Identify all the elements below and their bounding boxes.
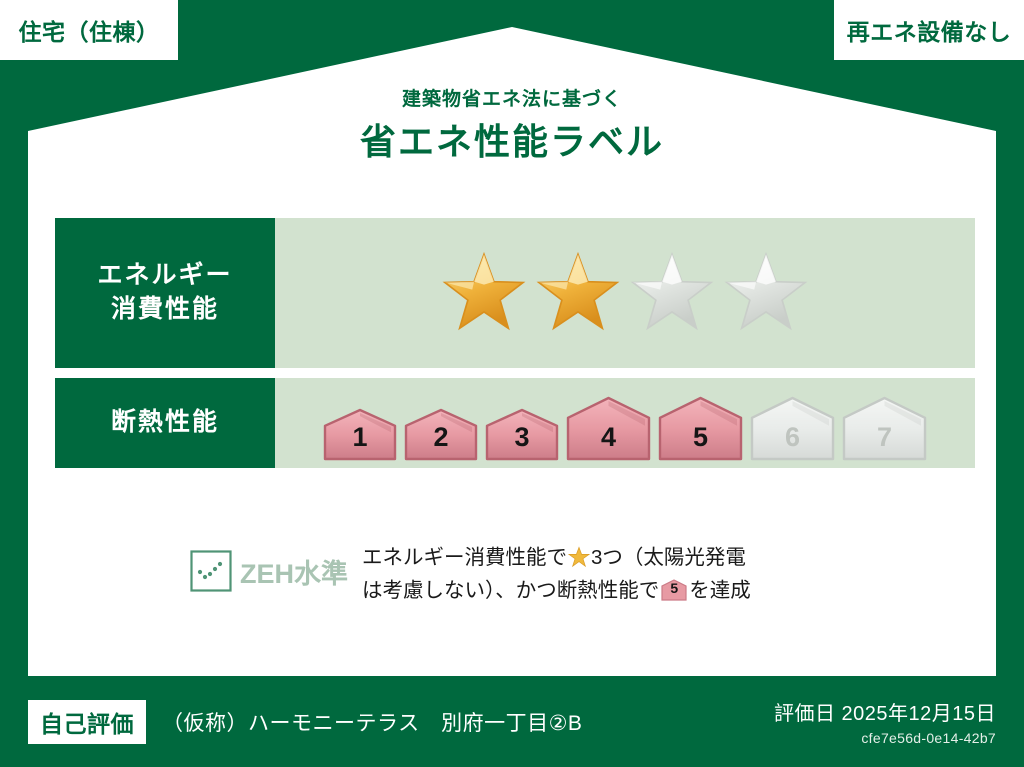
inline-star-icon [568,546,590,568]
insulation-level-badge: 1 [322,408,398,462]
insulation-level-badge: 6 [749,396,836,462]
insulation-level-number: 4 [565,422,652,453]
footer-left: 自己評価 （仮称）ハーモニーテラス 別府一丁目②B [28,700,582,744]
star-filled-icon [442,251,526,335]
inline-house-number: 5 [661,577,687,599]
zeh-description: エネルギー消費性能で3つ（太陽光発電 は考慮しない）、かつ断熱性能で5を達成 [362,538,751,608]
insulation-level-badge: 4 [565,396,652,462]
insulation-level-scale: 1234567 [322,396,928,462]
zeh-description-line1-post: 3つ（太陽光発電 [591,546,746,569]
insulation-performance-row: 断熱性能 1234567 [55,378,975,468]
star-empty-icon [630,251,714,335]
renewable-equipment-badge: 再エネ設備なし [834,0,1024,60]
energy-performance-label-line2: 消費性能 [111,293,219,327]
footer-right: 評価日 2025年12月15日 cfe7e56d-0e14-42b7 [774,697,996,746]
insulation-performance-label-line1: 断熱性能 [111,406,219,440]
energy-performance-label: エネルギー 消費性能 [55,218,275,368]
zeh-mark: ZEH水準 [190,538,348,592]
evaluation-date: 評価日 2025年12月15日 [774,697,996,726]
energy-performance-value [275,218,975,368]
insulation-performance-value: 1234567 [275,378,975,468]
insulation-level-badge: 7 [841,396,928,462]
insulation-level-badge: 2 [403,408,479,462]
energy-performance-label-line1: エネルギー [97,259,232,293]
page-subtitle: 建築物省エネ法に基づく [0,88,1024,113]
star-empty-icon [724,251,808,335]
assessment-type-badge: 自己評価 [28,700,146,744]
star-rating [442,251,808,335]
footer-bar: 自己評価 （仮称）ハーモニーテラス 別府一丁目②B 評価日 2025年12月15… [0,676,1024,767]
zeh-description-line2-pre: は考慮しない）、かつ断熱性能で [362,579,659,602]
title-block: 建築物省エネ法に基づく 省エネ性能ラベル [0,88,1024,164]
insulation-level-number: 7 [841,422,928,453]
insulation-level-number: 1 [322,422,398,453]
insulation-level-number: 6 [749,422,836,453]
insulation-level-number: 2 [403,422,479,453]
insulation-level-number: 3 [484,422,560,453]
zeh-section: ZEH水準 エネルギー消費性能で3つ（太陽光発電 は考慮しない）、かつ断熱性能で… [190,538,890,608]
label-id: cfe7e56d-0e14-42b7 [774,730,996,746]
zeh-label: ZEH水準 [240,552,348,591]
zeh-description-line1-pre: エネルギー消費性能で [362,546,567,569]
building-type-badge-label: 住宅（住棟） [19,13,160,47]
inline-house-badge: 5 [661,579,687,601]
insulation-level-number: 5 [657,422,744,453]
zeh-description-line2-post: を達成 [689,579,751,602]
renewable-equipment-badge-label: 再エネ設備なし [847,13,1012,47]
insulation-performance-label: 断熱性能 [55,378,275,468]
dotted-check-icon [190,550,232,592]
insulation-level-badge: 5 [657,396,744,462]
building-type-badge: 住宅（住棟） [0,0,178,60]
insulation-level-badge: 3 [484,408,560,462]
star-filled-icon [536,251,620,335]
energy-performance-row: エネルギー 消費性能 [55,218,975,368]
building-name: （仮称）ハーモニーテラス 別府一丁目②B [162,707,582,737]
page-title: 省エネ性能ラベル [0,119,1024,164]
